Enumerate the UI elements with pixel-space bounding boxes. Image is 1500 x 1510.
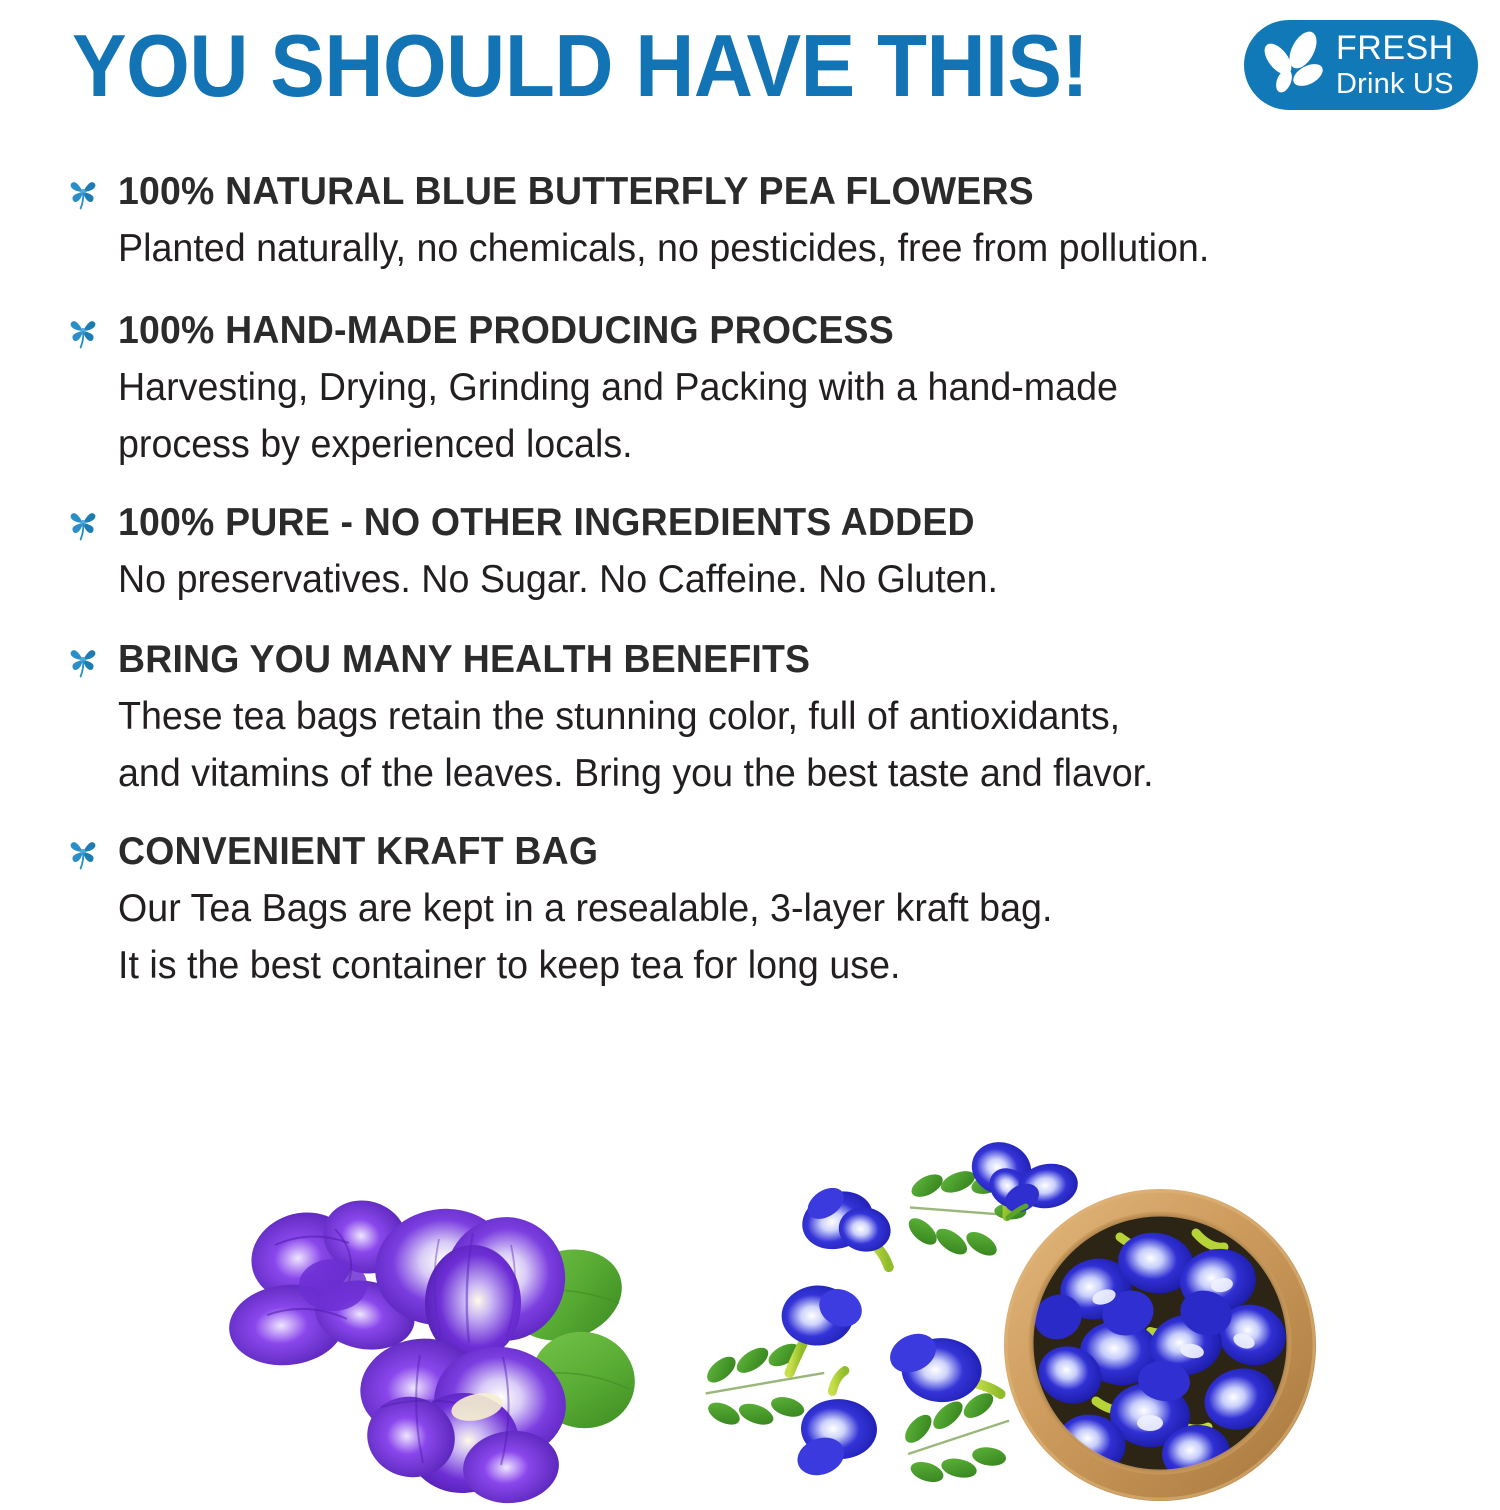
- feature-title: 100% HAND-MADE PRODUCING PROCESS: [118, 307, 1406, 355]
- feature-title: 100% NATURAL BLUE BUTTERFLY PEA FLOWERS: [118, 168, 1406, 216]
- clover-icon: [64, 642, 102, 680]
- clover-icon: [64, 313, 102, 351]
- feature-item-pure-no-additives: 100% PURE - NO OTHER INGREDIENTS ADDED N…: [0, 499, 1460, 608]
- feature-body: No preservatives. No Sugar. No Caffeine.…: [118, 551, 1413, 608]
- feature-body: Our Tea Bags are kept in a resealable, 3…: [118, 880, 1413, 994]
- clover-icon: [64, 505, 102, 543]
- feature-body: Harvesting, Drying, Grinding and Packing…: [118, 359, 1413, 473]
- brand-logo[interactable]: FRESH Drink US: [1244, 20, 1478, 110]
- product-photo-strip: [0, 1120, 1500, 1500]
- feature-body: These tea bags retain the stunning color…: [118, 688, 1413, 802]
- leaf-flower-mark-icon: [1258, 28, 1332, 102]
- feature-item-natural-flowers: 100% NATURAL BLUE BUTTERFLY PEA FLOWERS …: [0, 168, 1460, 277]
- feature-body: Planted naturally, no chemicals, no pest…: [118, 220, 1413, 277]
- logo-wordmark: FRESH Drink US: [1336, 31, 1454, 99]
- logo-brand-primary: FRESH: [1336, 31, 1454, 65]
- header: YOU SHOULD HAVE THIS! FRESH Drink US: [0, 0, 1500, 130]
- flower-fragment-photo: [1000, 1160, 1090, 1245]
- clover-icon: [64, 834, 102, 872]
- butterfly-pea-flower-cluster-photo: [215, 1175, 635, 1510]
- feature-item-health-benefits: BRING YOU MANY HEALTH BENEFITS These tea…: [0, 636, 1460, 802]
- page-title: YOU SHOULD HAVE THIS!: [72, 18, 1088, 114]
- feature-title: BRING YOU MANY HEALTH BENEFITS: [118, 636, 1406, 684]
- scattered-flowers-and-leaves-photo: [690, 1130, 1040, 1505]
- feature-list: 100% NATURAL BLUE BUTTERFLY PEA FLOWERS …: [0, 168, 1460, 994]
- feature-item-kraft-bag: CONVENIENT KRAFT BAG Our Tea Bags are ke…: [0, 828, 1460, 994]
- feature-title: CONVENIENT KRAFT BAG: [118, 828, 1406, 876]
- clover-icon: [64, 174, 102, 212]
- logo-brand-secondary: Drink US: [1336, 70, 1454, 99]
- feature-item-handmade-process: 100% HAND-MADE PRODUCING PROCESS Harvest…: [0, 307, 1460, 473]
- feature-title: 100% PURE - NO OTHER INGREDIENTS ADDED: [118, 499, 1406, 547]
